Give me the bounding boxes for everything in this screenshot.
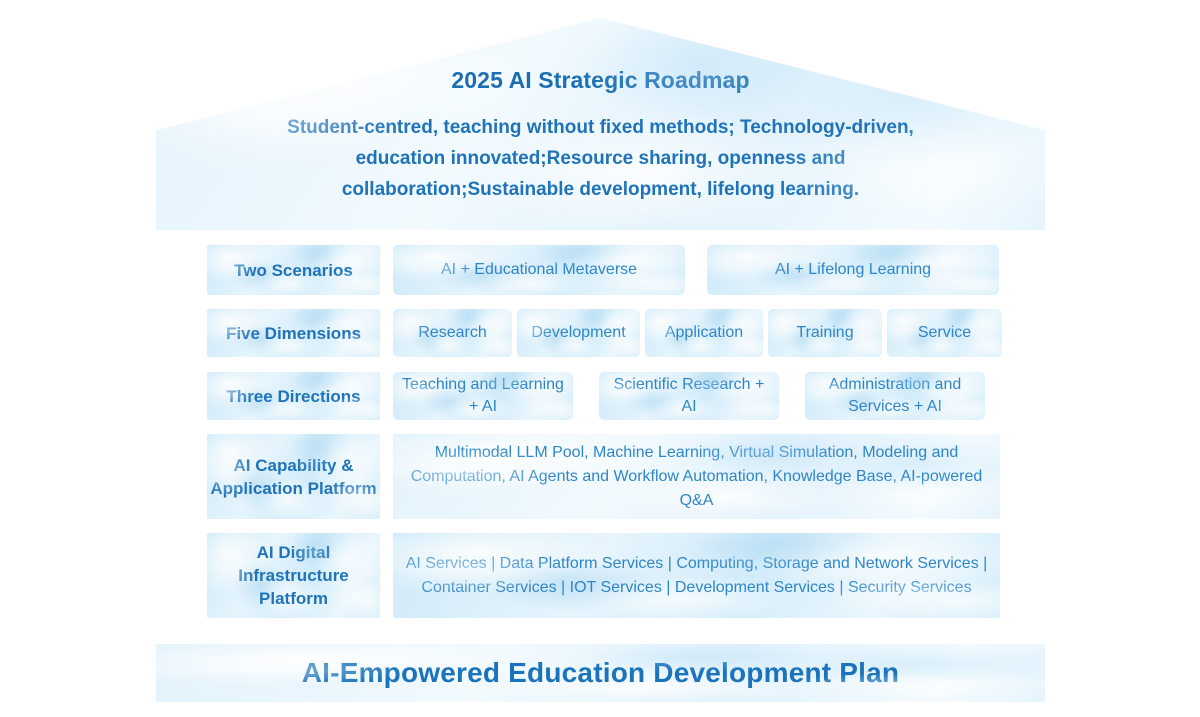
roadmap-title: 2025 AI Strategic Roadmap — [451, 67, 749, 94]
row-cells-ai-capability-platform: Multimodal LLM Pool, Machine Learning, V… — [393, 434, 1000, 519]
row-label-three-directions: Three Directions — [207, 372, 380, 420]
roof-panel: 2025 AI Strategic Roadmap Student-centre… — [156, 18, 1045, 230]
row-label-ai-digital-infrastructure-platform: AI Digital Infrastructure Platform — [207, 533, 380, 618]
cell-ai-lifelong-learning[interactable]: AI + Lifelong Learning — [707, 245, 999, 295]
row-cells-two-scenarios: AI + Educational Metaverse AI + Lifelong… — [393, 245, 999, 295]
roadmap-subtitle: Student-centred, teaching without fixed … — [251, 112, 951, 205]
row-label-five-dimensions: Five Dimensions — [207, 309, 380, 357]
row-cells-five-dimensions: Research Development Application Trainin… — [393, 309, 1002, 357]
cell-service[interactable]: Service — [887, 309, 1002, 357]
row-five-dimensions: Five Dimensions Research Development App… — [207, 309, 1002, 357]
cell-training[interactable]: Training — [768, 309, 882, 357]
cell-teaching-and-learning-ai[interactable]: Teaching and Learning + AI — [393, 372, 573, 420]
cell-development[interactable]: Development — [517, 309, 640, 357]
row-three-directions: Three Directions Teaching and Learning +… — [207, 372, 985, 420]
cell-application[interactable]: Application — [645, 309, 763, 357]
cell-ai-capability-contents[interactable]: Multimodal LLM Pool, Machine Learning, V… — [393, 434, 1000, 519]
cell-administration-and-services-ai[interactable]: Administration and Services + AI — [805, 372, 985, 420]
cell-research[interactable]: Research — [393, 309, 512, 357]
cell-ai-infrastructure-contents[interactable]: AI Services | Data Platform Services | C… — [393, 533, 1000, 618]
row-label-two-scenarios: Two Scenarios — [207, 245, 380, 295]
row-ai-digital-infrastructure-platform: AI Digital Infrastructure Platform AI Se… — [207, 533, 1000, 618]
footer-banner: AI-Empowered Education Development Plan — [156, 644, 1045, 702]
footer-title: AI-Empowered Education Development Plan — [302, 657, 899, 689]
roadmap-diagram: 2025 AI Strategic Roadmap Student-centre… — [0, 0, 1200, 717]
row-cells-three-directions: Teaching and Learning + AI Scientific Re… — [393, 372, 985, 420]
cell-scientific-research-ai[interactable]: Scientific Research + AI — [599, 372, 779, 420]
row-ai-capability-platform: AI Capability & Application Platform Mul… — [207, 434, 1000, 519]
row-label-ai-capability-platform: AI Capability & Application Platform — [207, 434, 380, 519]
row-cells-ai-digital-infrastructure-platform: AI Services | Data Platform Services | C… — [393, 533, 1000, 618]
row-two-scenarios: Two Scenarios AI + Educational Metaverse… — [207, 245, 999, 295]
cell-ai-educational-metaverse[interactable]: AI + Educational Metaverse — [393, 245, 685, 295]
